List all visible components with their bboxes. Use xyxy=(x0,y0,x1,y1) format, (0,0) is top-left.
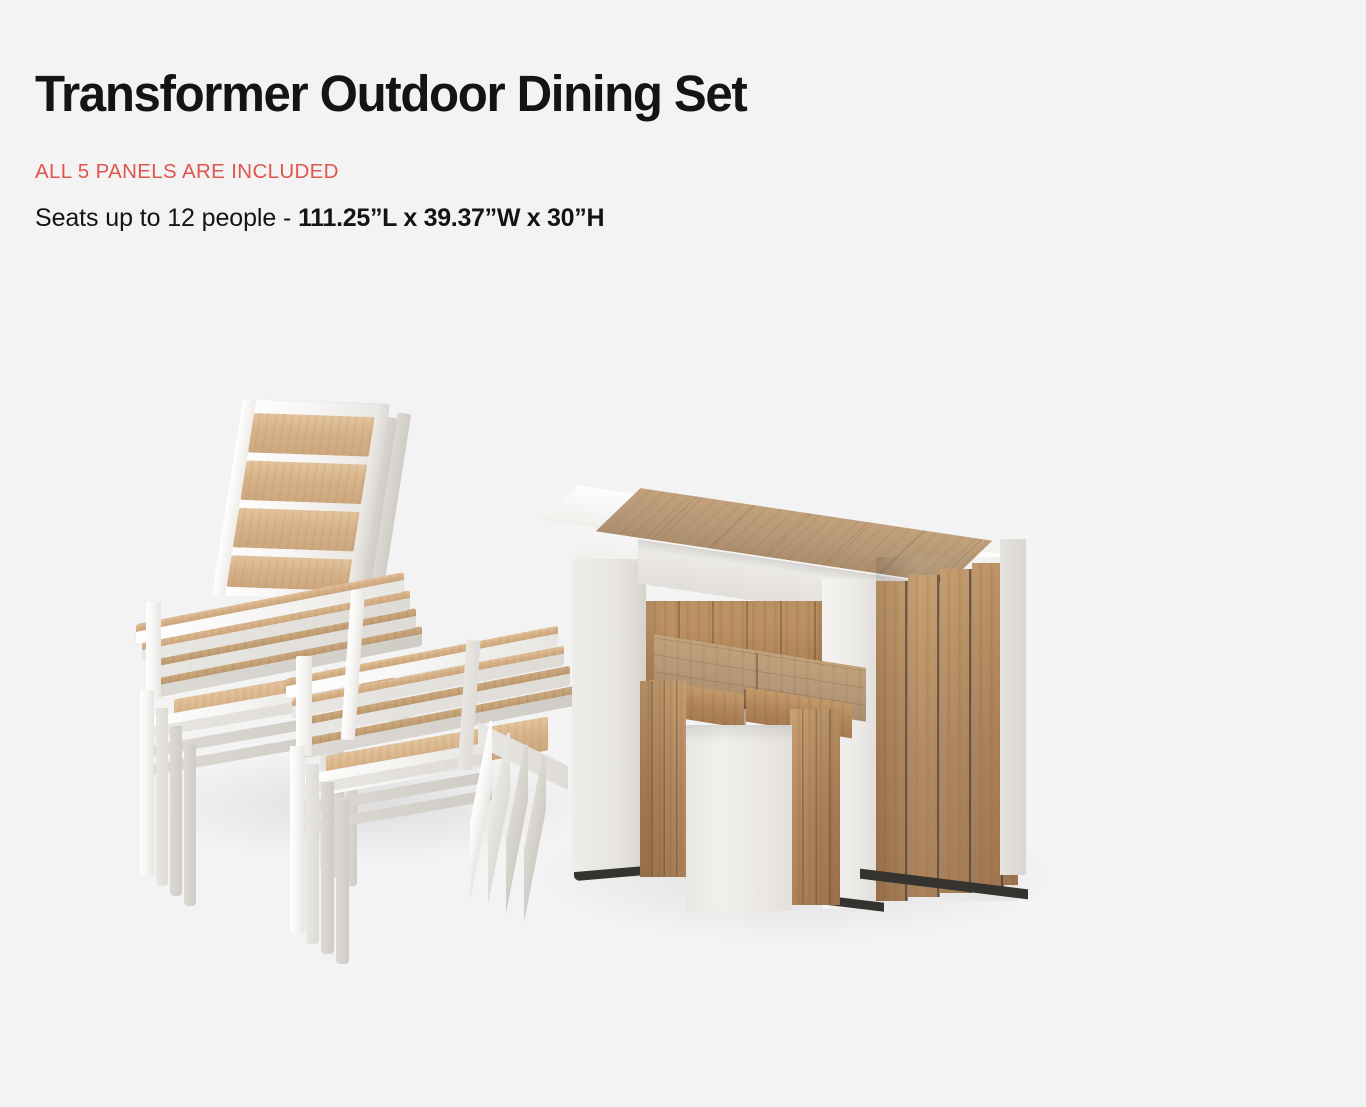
rear-chair-leg xyxy=(140,690,154,876)
table-far-end-panel xyxy=(1000,539,1026,875)
teak-extension-panels xyxy=(876,553,1016,903)
product-header: Transformer Outdoor Dining Set ALL 5 PAN… xyxy=(35,66,1035,232)
backrest-slat xyxy=(248,413,375,457)
chair-backrest xyxy=(212,399,390,602)
front-chair-leg xyxy=(321,782,334,954)
panels-included-note: ALL 5 PANELS ARE INCLUDED xyxy=(35,161,1035,184)
rear-chair-leg xyxy=(170,726,182,896)
backrest-slat xyxy=(240,460,367,504)
seating-capacity-text: Seats up to 12 people - xyxy=(35,204,298,232)
page-title: Transformer Outdoor Dining Set xyxy=(35,66,1000,121)
console-table xyxy=(560,505,1030,925)
nested-extension-table xyxy=(640,651,890,891)
nested-table-inner-white-panel xyxy=(686,725,792,911)
stacked-armchairs xyxy=(170,390,570,870)
dimensions-text: 111.25”L x 39.37”W x 30”H xyxy=(298,204,604,232)
rear-chair-leg xyxy=(184,744,196,906)
front-chair-leg xyxy=(306,764,319,944)
table-left-leg xyxy=(572,559,646,877)
seating-and-dimensions: Seats up to 12 people - 111.25”L x 39.37… xyxy=(35,204,1035,233)
front-chair-leg xyxy=(336,800,349,964)
product-image xyxy=(0,330,1366,970)
front-chair-leg xyxy=(290,746,305,934)
front-chair-rear-leg xyxy=(524,756,546,944)
rear-chair-leg xyxy=(156,708,168,886)
backrest-slat xyxy=(233,508,360,552)
